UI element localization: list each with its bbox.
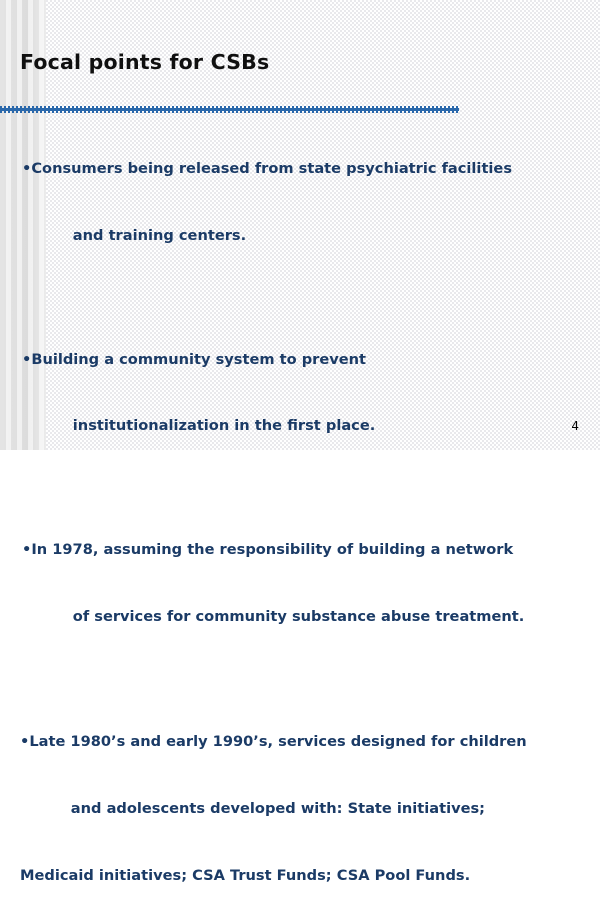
page-number: 4: [571, 419, 579, 433]
bullet-line: of services for community substance abus…: [22, 606, 600, 628]
bullet-item: •Consumers being released from state psy…: [22, 114, 600, 291]
title-divider-rule: [0, 106, 459, 113]
divider-dither-bottom: [0, 111, 459, 113]
bullet-item: •Building a community system to prevent …: [22, 304, 600, 481]
bullet-line: •In 1978, assuming the responsibility of…: [22, 539, 600, 561]
bullet-line: •Late 1980’s and early 1990’s, services …: [20, 731, 600, 753]
slide-canvas: Focal points for CSBs •Consumers being r…: [0, 0, 600, 450]
bullet-line: and adolescents developed with: State in…: [20, 798, 600, 820]
bullet-line: institutionalization in the first place.: [22, 415, 600, 437]
bullet-line: •Consumers being released from state psy…: [22, 158, 600, 180]
page-title: Focal points for CSBs: [20, 50, 269, 74]
bullet-item: •In 1978, assuming the responsibility of…: [22, 495, 600, 672]
bullet-line: Medicaid initiatives; CSA Trust Funds; C…: [20, 865, 600, 887]
bullet-line: and training centers.: [22, 225, 600, 247]
bullet-item: •Late 1980’s and early 1990’s, services …: [20, 687, 600, 900]
slide-body: •Consumers being released from state psy…: [0, 114, 600, 900]
bullet-line: •Building a community system to prevent: [22, 349, 600, 371]
